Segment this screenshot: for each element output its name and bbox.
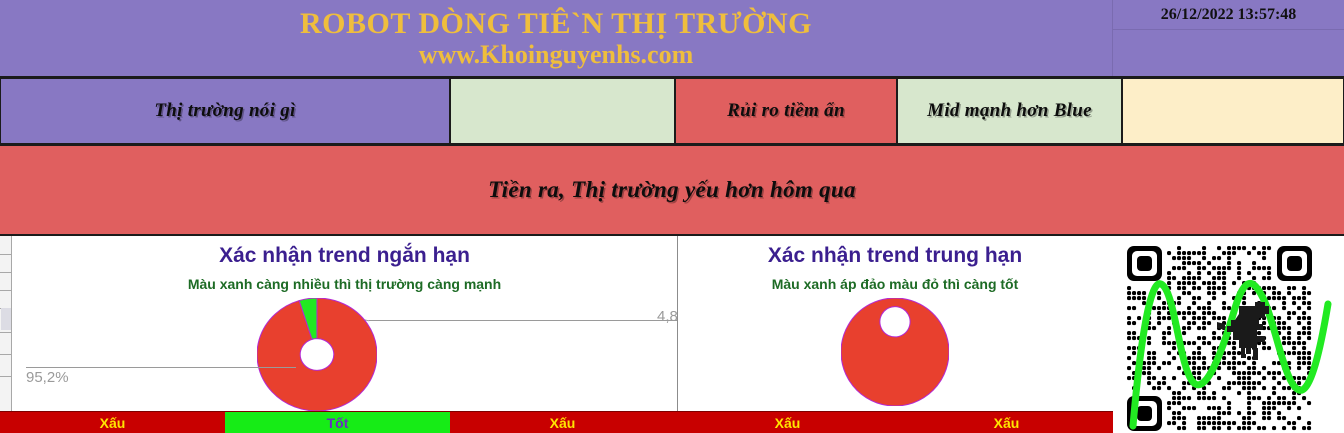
chart-title: Xác nhận trend ngắn hạn bbox=[12, 244, 677, 268]
qr-code-block[interactable] bbox=[1113, 236, 1344, 433]
status-tab-label: Mid mạnh hơn Blue bbox=[927, 100, 1092, 122]
leader-line-red bbox=[26, 367, 296, 368]
page-title: ROBOT DÒNG TIÊ`N THỊ TRƯỜNG bbox=[300, 8, 812, 40]
status-tab-empty-1[interactable] bbox=[450, 78, 675, 144]
chart-panel-short-term: Xác nhận trend ngắn hạn Màu xanh càng nh… bbox=[12, 236, 678, 411]
donut-chart-mid-term[interactable] bbox=[841, 298, 949, 411]
verdict-bar: Xấu Tốt Xấu Xấu Xấu bbox=[0, 411, 1344, 433]
verdict-segment[interactable]: Tốt bbox=[225, 411, 450, 433]
data-label-green: 4,8 bbox=[657, 308, 678, 325]
scrollbar-tick bbox=[0, 272, 12, 273]
verdict-label: Tốt bbox=[327, 415, 349, 431]
verdict-segment[interactable]: Xấu bbox=[675, 411, 900, 433]
brand-block: ROBOT DÒNG TIÊ`N THỊ TRƯỜNG www.Khoinguy… bbox=[0, 0, 1113, 76]
verdict-segment[interactable]: Xấu bbox=[0, 411, 225, 433]
headline-banner: Tiền ra, Thị trường yếu hơn hôm qua bbox=[0, 144, 1344, 236]
scrollbar-tick bbox=[0, 290, 12, 291]
status-tab-label: Thị trường nói gì bbox=[154, 100, 295, 122]
clock-inner: 26/12/2022 13:57:48 bbox=[1113, 0, 1344, 30]
status-tab-label: Rủi ro tiềm ẩn bbox=[727, 100, 845, 122]
leader-line-green bbox=[369, 320, 678, 321]
donut-svg bbox=[257, 298, 377, 411]
scrollbar-tick bbox=[0, 254, 12, 255]
chart-subtitle: Màu xanh càng nhiều thì thị trường càng … bbox=[12, 276, 677, 292]
status-tab-hidden-risk[interactable]: Rủi ro tiềm ẩn bbox=[675, 78, 897, 144]
headline-text: Tiền ra, Thị trường yếu hơn hôm qua bbox=[488, 177, 856, 203]
qr-finder-pattern bbox=[1277, 246, 1312, 281]
website-url: www.Khoinguyenhs.com bbox=[419, 41, 694, 68]
donut-slice bbox=[841, 298, 949, 406]
chart-title: Xác nhận trend trung hạn bbox=[679, 244, 1111, 268]
chart-subtitle: Màu xanh áp đảo màu đỏ thì càng tốt bbox=[679, 276, 1111, 292]
verdict-label: Xấu bbox=[550, 415, 576, 431]
verdict-label: Xấu bbox=[775, 415, 801, 431]
qr-code-image bbox=[1113, 236, 1344, 433]
verdict-segment[interactable]: Xấu bbox=[450, 411, 675, 433]
status-tab-mid-vs-blue[interactable]: Mid mạnh hơn Blue bbox=[897, 78, 1122, 144]
scrollbar-tick bbox=[0, 332, 12, 333]
donut-svg bbox=[841, 298, 949, 406]
datetime-text: 26/12/2022 13:57:48 bbox=[1161, 6, 1297, 24]
data-label-red: 95,2% bbox=[26, 369, 69, 386]
app-title-bar: ROBOT DÒNG TIÊ`N THỊ TRƯỜNG www.Khoinguy… bbox=[0, 0, 1344, 78]
status-tab-market-says[interactable]: Thị trường nói gì bbox=[0, 78, 450, 144]
scrollbar-thumb[interactable] bbox=[1, 308, 11, 330]
scrollbar-tick bbox=[0, 354, 12, 355]
chart-panel-mid-term: Xác nhận trend trung hạn Màu xanh áp đảo… bbox=[679, 236, 1111, 411]
scrollbar-tick bbox=[0, 376, 12, 377]
donut-chart-short-term[interactable] bbox=[257, 298, 377, 411]
status-tabs-row: Thị trường nói gì Rủi ro tiềm ẩn Mid mạn… bbox=[0, 78, 1344, 144]
verdict-label: Xấu bbox=[100, 415, 126, 431]
qr-finder-pattern bbox=[1127, 246, 1162, 281]
vertical-scrollbar[interactable] bbox=[0, 236, 12, 411]
verdict-label: Xấu bbox=[994, 415, 1020, 431]
verdict-segment[interactable]: Xấu bbox=[900, 411, 1113, 433]
status-tab-empty-2[interactable] bbox=[1122, 78, 1344, 144]
clock-cell: 26/12/2022 13:57:48 bbox=[1113, 0, 1344, 76]
